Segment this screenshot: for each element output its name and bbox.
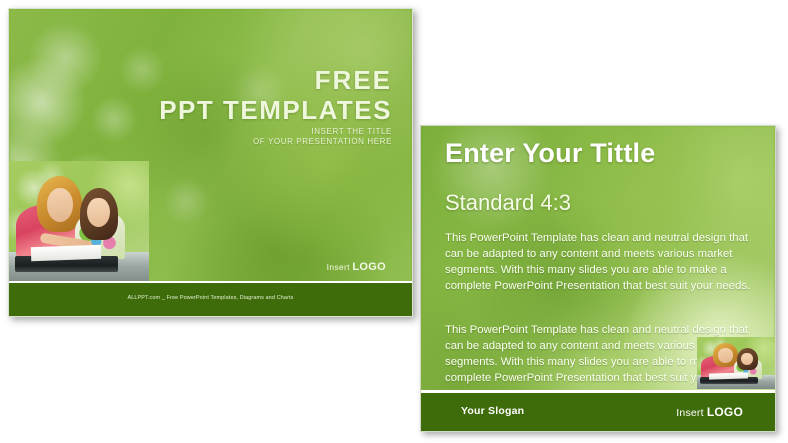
slide-two-title: Enter Your Tittle <box>445 138 655 169</box>
slide-one-logo-prefix: Insert <box>327 262 353 272</box>
slide-two-photo <box>697 337 775 389</box>
slide-two-body-paragraph-1: This PowerPoint Template has clean and n… <box>445 230 763 294</box>
slide-one-headline-line-1: FREE <box>315 65 392 96</box>
slide-one-photo <box>9 161 149 284</box>
slide-one-subtitle: INSERT THE TITLE OF YOUR PRESENTATION HE… <box>253 127 392 147</box>
slide-one-logo-word: LOGO <box>352 261 386 273</box>
photo-paper <box>709 372 748 379</box>
slide-two-bottom-bar: Your Slogan Insert LOGO <box>421 390 775 431</box>
slide-one-logo-placeholder: Insert LOGO <box>327 261 386 273</box>
slide-two-logo-word: LOGO <box>707 405 743 419</box>
slide-one-subtitle-line-1: INSERT THE TITLE <box>253 127 392 137</box>
photo-paper <box>31 245 101 261</box>
slide-two-subtitle: Standard 4:3 <box>445 190 571 216</box>
slide-two-logo-placeholder: Insert LOGO <box>676 405 743 419</box>
photo-mother-face <box>718 348 733 363</box>
slide-one-subtitle-line-2: OF YOUR PRESENTATION HERE <box>253 137 392 147</box>
photo-child-face <box>741 353 753 365</box>
slide-one-footer-text: ALLPPT.com _ Free PowerPoint Templates, … <box>9 295 412 301</box>
slide-one-headline-line-2: PPT TEMPLATES <box>159 95 392 126</box>
slide-preview-stage: Enter Your Tittle Standard 4:3 This Powe… <box>0 0 788 443</box>
slide-one-footer-bar: ALLPPT.com _ Free PowerPoint Templates, … <box>9 281 412 316</box>
slide-two[interactable]: Enter Your Tittle Standard 4:3 This Powe… <box>420 125 776 432</box>
slide-two-slogan: Your Slogan <box>461 405 524 417</box>
slide-two-logo-prefix: Insert <box>676 407 707 419</box>
slide-one[interactable]: FREE PPT TEMPLATES INSERT THE TITLE OF Y… <box>8 8 413 317</box>
